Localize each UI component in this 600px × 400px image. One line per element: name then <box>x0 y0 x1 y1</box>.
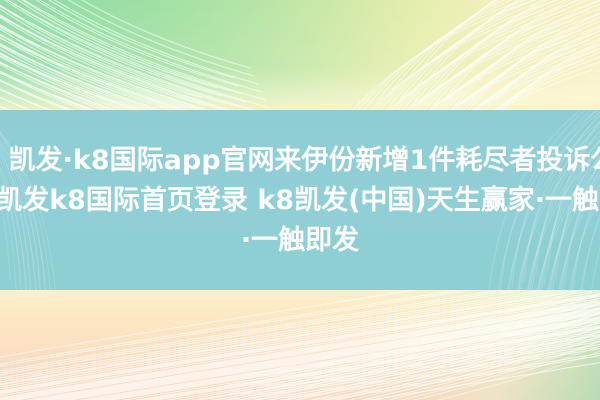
bottom-gradient-band <box>0 290 600 400</box>
headline-line-3: ·一触即发 <box>241 221 359 261</box>
headline-text-block: 凯发·k8国际app官网来伊份新增1件耗尽者投诉公 -凯发k8国际首页登录 k8… <box>0 110 600 291</box>
headline-line-2: -凯发k8国际首页登录 k8凯发(中国)天生赢家·一触即 <box>0 181 600 221</box>
bottom-wave-lines <box>0 290 600 400</box>
headline-line-1: 凯发·k8国际app官网来伊份新增1件耗尽者投诉公 <box>9 141 600 181</box>
top-wave-lines <box>0 0 600 111</box>
promotional-banner: 凯发·k8国际app官网来伊份新增1件耗尽者投诉公 -凯发k8国际首页登录 k8… <box>0 0 600 400</box>
top-gradient-band <box>0 0 600 111</box>
